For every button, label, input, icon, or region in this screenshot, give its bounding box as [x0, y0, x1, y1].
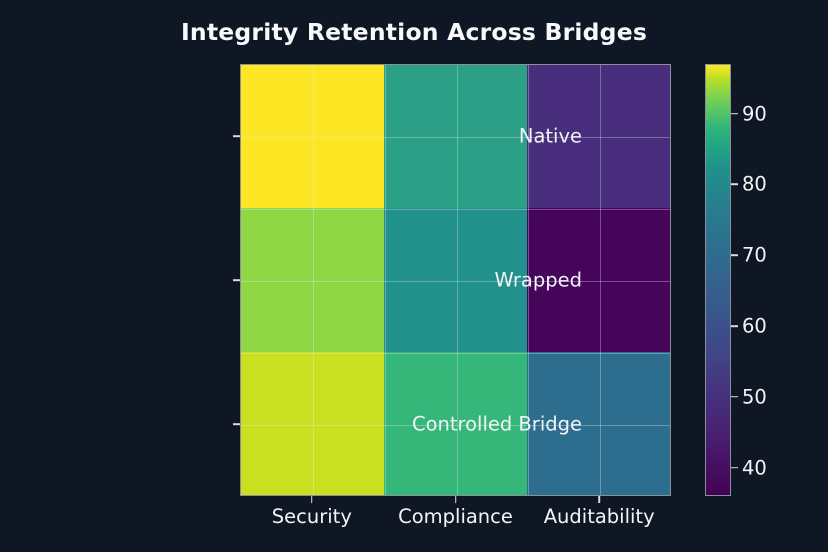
colorbar-tick-mark [731, 254, 738, 256]
y-tick-label: Native [519, 125, 582, 148]
colorbar-tick-mark [731, 396, 738, 398]
x-tick-label: Security [272, 505, 352, 528]
colorbar-tick-label: 60 [742, 315, 767, 338]
y-tick-label: Controlled Bridge [412, 413, 582, 436]
colorbar-tick-mark [731, 184, 738, 186]
y-tick-mark [233, 423, 240, 425]
heatmap-cell [241, 352, 384, 495]
chart-title: Integrity Retention Across Bridges [0, 18, 828, 46]
x-tick-label: Compliance [398, 505, 513, 528]
colorbar-tick-label: 40 [742, 456, 767, 479]
colorbar-gradient [705, 64, 731, 496]
y-tick-mark [233, 135, 240, 137]
colorbar-tick-label: 90 [742, 102, 767, 125]
colorbar-tick-label: 50 [742, 385, 767, 408]
x-tick-mark [598, 496, 600, 503]
colorbar-tick-label: 70 [742, 244, 767, 267]
y-tick-label: Wrapped [494, 269, 582, 292]
colorbar-tick-mark [731, 113, 738, 115]
colorbar-tick-mark [731, 467, 738, 469]
colorbar-tick-mark [731, 325, 738, 327]
heatmap-cell [384, 65, 527, 208]
x-tick-mark [311, 496, 313, 503]
x-tick-mark [455, 496, 457, 503]
y-tick-mark [233, 279, 240, 281]
x-tick-label: Auditability [544, 505, 655, 528]
chart-figure: Integrity Retention Across Bridges Nativ… [0, 0, 828, 552]
heatmap-cell [241, 65, 384, 208]
heatmap-cell [241, 208, 384, 351]
colorbar-tick-label: 80 [742, 173, 767, 196]
